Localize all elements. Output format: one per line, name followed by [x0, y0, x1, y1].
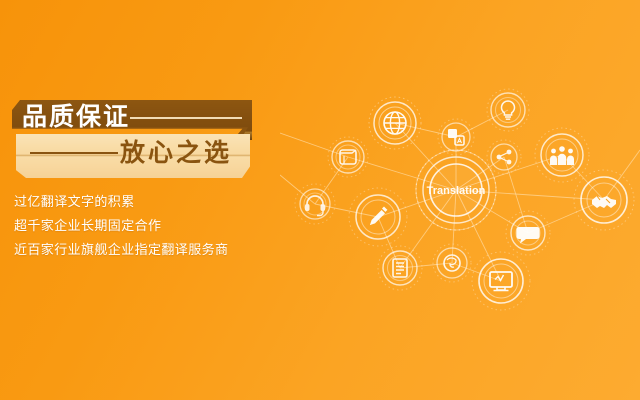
node-translate: [438, 119, 474, 155]
banner-subtitle-rule: [30, 152, 118, 154]
banner-subtitle: 放心之选: [120, 138, 232, 169]
node-pencil: [349, 188, 407, 246]
quality-banner: 品质保证 放心之选: [0, 100, 268, 178]
highlight-list: 过亿翻译文字的积累 超千家企业长期固定合作 近百家行业旗舰企业指定翻译服务商: [14, 190, 274, 262]
node-spiral: [433, 244, 471, 282]
highlight-line: 超千家企业长期固定合作: [14, 214, 274, 238]
node-lightbulb: [487, 89, 529, 131]
node-document: [378, 246, 422, 290]
translation-network-graphic: Translation: [280, 55, 640, 315]
network-hub: Translation: [416, 150, 496, 230]
node-book: [328, 137, 368, 177]
banner-title: 品质保证: [22, 103, 130, 132]
banner-title-rule: [130, 117, 242, 119]
node-headset: [295, 184, 335, 224]
banner-stage: Translation: [0, 0, 640, 400]
node-handshake: [574, 170, 634, 230]
node-globe: [369, 97, 421, 149]
hub-label: Translation: [427, 185, 486, 197]
node-people: [535, 128, 589, 182]
network-nodes: [295, 89, 634, 310]
node-monitor: [472, 252, 530, 310]
node-chat: [506, 211, 550, 255]
node-share: [487, 140, 521, 174]
highlight-line: 近百家行业旗舰企业指定翻译服务商: [14, 238, 274, 262]
highlight-line: 过亿翻译文字的积累: [14, 190, 274, 214]
